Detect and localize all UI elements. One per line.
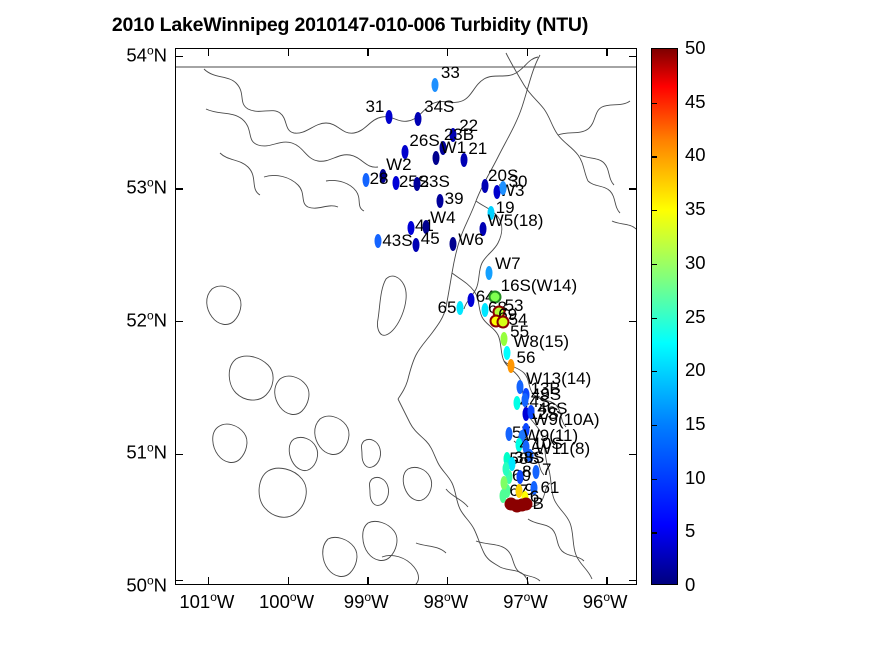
station-marker[interactable] xyxy=(502,462,509,476)
x-tick-label: 101oW xyxy=(179,590,234,613)
station-marker[interactable] xyxy=(499,489,506,503)
station-marker[interactable] xyxy=(415,112,422,126)
x-tick-bottom xyxy=(367,577,368,584)
colorbar-tick-label: 20 xyxy=(685,359,706,381)
y-tick-right xyxy=(629,321,636,322)
station-label: 16S(W14) xyxy=(501,277,578,294)
map-axes[interactable]: 333134S2223B26SW121W22825S23S20SW3303919… xyxy=(175,48,637,585)
colorbar-tick-label: 0 xyxy=(685,574,695,596)
station-label: 33 xyxy=(441,64,460,81)
colorbar-tick xyxy=(651,264,657,265)
x-tick-label: 99oW xyxy=(344,590,389,613)
station-label: 39 xyxy=(445,190,464,207)
station-marker[interactable] xyxy=(533,465,540,479)
station-marker[interactable] xyxy=(431,78,438,92)
x-tick-label: 96oW xyxy=(583,590,628,613)
colorbar-tick xyxy=(651,156,657,157)
station-label: W7 xyxy=(495,255,521,272)
x-tick-top xyxy=(447,49,448,56)
colorbar-tick-label: 15 xyxy=(685,413,706,435)
x-tick-bottom xyxy=(288,577,289,584)
x-tick-top xyxy=(208,49,209,56)
colorbar-tick-label: 50 xyxy=(685,37,706,59)
y-tick-left xyxy=(176,56,183,57)
station-label: 56 xyxy=(517,349,536,366)
station-marker[interactable] xyxy=(501,476,508,490)
station-label: 8 xyxy=(522,463,531,480)
x-tick-label: 97oW xyxy=(503,590,548,613)
y-tick-right xyxy=(629,454,636,455)
station-label: 21 xyxy=(468,140,487,157)
station-label: 7 xyxy=(542,461,551,478)
x-tick-top xyxy=(606,49,607,56)
colorbar[interactable] xyxy=(651,48,678,585)
x-tick-bottom xyxy=(208,577,209,584)
station-label: W6 xyxy=(458,231,484,248)
colorbar-tick xyxy=(651,479,657,480)
station-label: B xyxy=(532,495,543,512)
x-tick-top xyxy=(527,49,528,56)
y-tick-right xyxy=(629,56,636,57)
station-label: W5(18) xyxy=(488,212,544,229)
station-marker[interactable] xyxy=(375,234,382,248)
station-marker[interactable] xyxy=(386,110,393,124)
colorbar-tick-label: 45 xyxy=(685,91,706,113)
y-tick-label: 54oN xyxy=(126,43,167,66)
station-label: 31 xyxy=(365,98,384,115)
station-label: 30 xyxy=(509,173,528,190)
figure-canvas: 2010 LakeWinnipeg 2010147-010-006 Turbid… xyxy=(0,0,875,656)
colorbar-tick-label: 25 xyxy=(685,306,706,328)
station-label: W9(10A) xyxy=(532,411,599,428)
x-tick-top xyxy=(288,49,289,56)
station-label: W4 xyxy=(430,209,456,226)
map-clip-region xyxy=(176,49,636,584)
station-marker[interactable] xyxy=(507,359,514,373)
page-title: 2010 LakeWinnipeg 2010147-010-006 Turbid… xyxy=(0,14,700,37)
x-tick-top xyxy=(367,49,368,56)
coastline-map xyxy=(176,49,636,584)
x-tick-bottom xyxy=(606,577,607,584)
station-marker[interactable] xyxy=(432,151,439,165)
x-tick-label: 98oW xyxy=(423,590,468,613)
station-label: 43S xyxy=(382,232,412,249)
station-marker[interactable] xyxy=(450,237,457,251)
station-marker[interactable] xyxy=(412,238,419,252)
station-label: 23S xyxy=(420,173,450,190)
y-tick-left xyxy=(176,454,183,455)
x-tick-bottom xyxy=(527,577,528,584)
colorbar-tick-label: 35 xyxy=(685,198,706,220)
station-marker[interactable] xyxy=(496,316,509,329)
station-marker[interactable] xyxy=(486,266,493,280)
y-tick-right xyxy=(629,580,636,581)
colorbar-tick-label: 30 xyxy=(685,252,706,274)
x-tick-bottom xyxy=(447,577,448,584)
y-tick-left xyxy=(176,580,183,581)
colorbar-tick xyxy=(651,318,657,319)
y-tick-left xyxy=(176,188,183,189)
y-tick-right xyxy=(629,188,636,189)
colorbar-tick xyxy=(651,425,657,426)
station-label: 45 xyxy=(421,230,440,247)
station-marker[interactable] xyxy=(436,194,443,208)
station-marker[interactable] xyxy=(504,346,511,360)
colorbar-tick-label: 5 xyxy=(685,520,695,542)
x-tick-label: 100oW xyxy=(259,590,314,613)
y-tick-label: 50oN xyxy=(126,573,167,596)
station-marker[interactable] xyxy=(467,293,474,307)
y-tick-label: 51oN xyxy=(126,441,167,464)
station-marker[interactable] xyxy=(456,301,463,315)
station-label: 28 xyxy=(370,170,389,187)
station-marker[interactable] xyxy=(515,499,528,512)
station-marker[interactable] xyxy=(362,173,369,187)
station-label: 34S xyxy=(424,98,454,115)
y-tick-label: 53oN xyxy=(126,176,167,199)
colorbar-tick xyxy=(651,371,657,372)
colorbar-tick xyxy=(651,103,657,104)
station-marker[interactable] xyxy=(461,153,468,167)
station-marker[interactable] xyxy=(499,181,506,195)
station-label: 65 xyxy=(438,299,457,316)
colorbar-tick xyxy=(651,532,657,533)
colorbar-tick-label: 10 xyxy=(685,467,706,489)
station-marker[interactable] xyxy=(501,332,508,346)
colorbar-tick-label: 40 xyxy=(685,144,706,166)
station-label: W2 xyxy=(386,156,412,173)
colorbar-tick xyxy=(651,210,657,211)
y-tick-left xyxy=(176,321,183,322)
station-label: 26S xyxy=(409,132,439,149)
y-tick-label: 52oN xyxy=(126,308,167,331)
station-marker[interactable] xyxy=(521,393,528,407)
